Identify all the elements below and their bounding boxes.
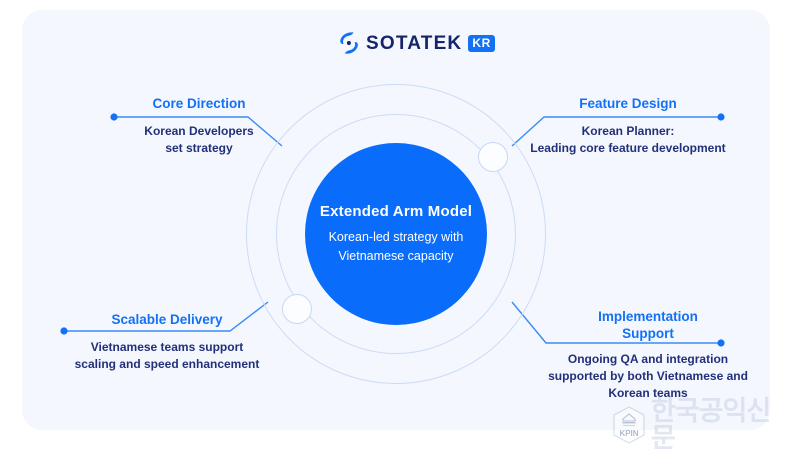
kpin-emblem-icon: KPIN [612, 406, 646, 444]
center-core-circle: Extended Arm Model Korean-led strategy w… [305, 143, 487, 325]
label-scalable-delivery: Scalable Delivery Vietnamese teams suppo… [42, 312, 292, 373]
label-feature-design-heading: Feature Design [508, 96, 748, 113]
label-implementation-support: Implementation Support Ongoing QA and in… [528, 309, 768, 402]
core-title: Extended Arm Model [320, 203, 472, 220]
label-implementation-support-heading-line-1: Implementation [528, 309, 768, 326]
label-feature-design: Feature Design Korean Planner: Leading c… [508, 96, 748, 157]
publisher-watermark: KPIN 한국공익신문 [612, 398, 792, 452]
kpin-emblem-text: KPIN [619, 429, 638, 438]
label-feature-design-body: Korean Planner: Leading core feature dev… [508, 123, 748, 157]
label-implementation-support-body-line-2: supported by both Vietnamese and [528, 368, 768, 385]
infographic-canvas: SOTATEK KR Extended Arm Model Korean-led… [0, 0, 792, 446]
core-subtitle-line-2: Vietnamese capacity [329, 247, 464, 265]
label-scalable-delivery-body-line-1: Vietnamese teams support [42, 339, 292, 356]
label-core-direction-body: Korean Developers set strategy [104, 123, 294, 157]
label-implementation-support-body-line-1: Ongoing QA and integration [528, 351, 768, 368]
label-scalable-delivery-body: Vietnamese teams support scaling and spe… [42, 339, 292, 373]
label-implementation-support-body: Ongoing QA and integration supported by … [528, 351, 768, 402]
watermark-text: 한국공익신문 [651, 398, 792, 452]
label-scalable-delivery-heading: Scalable Delivery [42, 312, 292, 329]
label-feature-design-body-line-1: Korean Planner: [508, 123, 748, 140]
label-core-direction-body-line-1: Korean Developers [104, 123, 294, 140]
label-implementation-support-heading-line-2: Support [528, 326, 768, 343]
node-top-right [478, 142, 508, 172]
core-subtitle: Korean-led strategy with Vietnamese capa… [329, 228, 464, 264]
label-scalable-delivery-body-line-2: scaling and speed enhancement [42, 356, 292, 373]
label-implementation-support-heading: Implementation Support [528, 309, 768, 343]
core-subtitle-line-1: Korean-led strategy with [329, 228, 464, 246]
label-core-direction-body-line-2: set strategy [104, 140, 294, 157]
label-core-direction: Core Direction Korean Developers set str… [104, 96, 294, 157]
label-core-direction-heading: Core Direction [104, 96, 294, 113]
label-feature-design-body-line-2: Leading core feature development [508, 140, 748, 157]
